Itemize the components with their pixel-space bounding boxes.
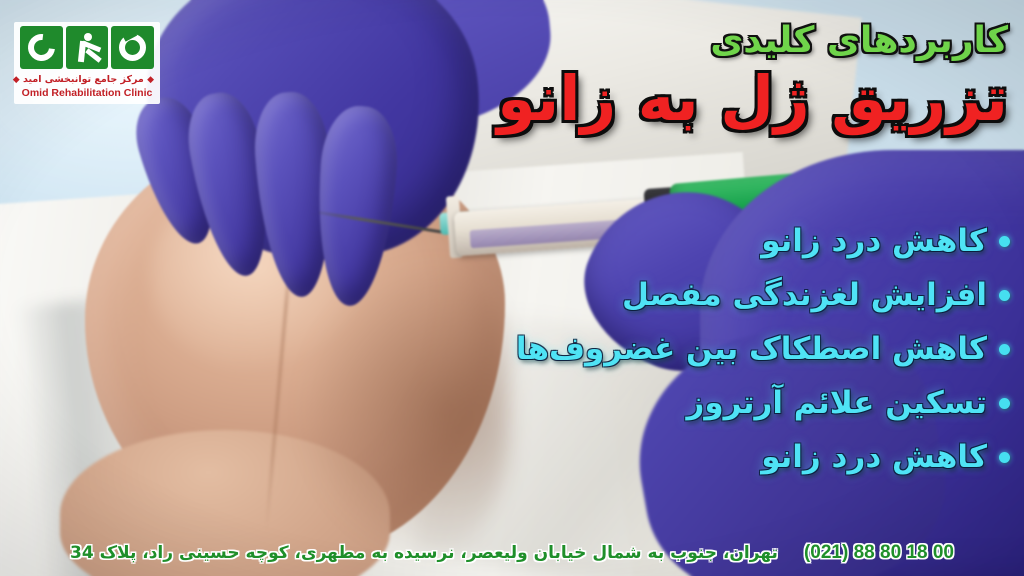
logo-c-glyph-icon [22, 29, 60, 67]
logo-english-name: Omid Rehabilitation Clinic [20, 87, 154, 99]
list-item: تسکین علائم آرتروز [320, 376, 1010, 430]
list-item: افزایش لغزندگی مفصل [320, 268, 1010, 322]
logo-dot-right-icon: ◆ [13, 75, 20, 85]
logo-persian-text: مرکز جامع توانبخشی امید [23, 74, 144, 85]
headline-kicker: کاربردهای کلیدی [448, 22, 1008, 60]
clinic-address: تهران، جنوب به شمال خیابان ولیعصر، نرسید… [70, 543, 778, 563]
benefit-label: تسکین علائم آرتروز [686, 385, 987, 421]
benefit-label: کاهش درد زانو [761, 223, 987, 259]
clinic-logo: ◆ مرکز جامع توانبخشی امید ◆ Omid Rehabil… [14, 22, 160, 104]
logo-tile-c [20, 26, 63, 69]
logo-r-figure-icon [73, 33, 101, 63]
logo-tile-r [66, 26, 109, 69]
bullet-dot-icon [999, 452, 1010, 463]
page-title: تزریق ژل به زانو [448, 66, 1008, 133]
logo-tile-o [111, 26, 154, 69]
logo-persian-name: ◆ مرکز جامع توانبخشی امید ◆ [20, 74, 154, 85]
benefits-list: کاهش درد زانو افزایش لغزندگی مفصل کاهش ا… [320, 214, 1010, 484]
clinic-phone[interactable]: (021) 88 80 18 00 [804, 542, 954, 564]
contact-footer: (021) 88 80 18 00 تهران، جنوب به شمال خی… [0, 542, 1024, 564]
bullet-dot-icon [999, 236, 1010, 247]
list-item: کاهش درد زانو [320, 214, 1010, 268]
benefit-label: کاهش درد زانو [761, 439, 987, 475]
benefit-label: افزایش لغزندگی مفصل [622, 277, 987, 313]
bullet-dot-icon [999, 290, 1010, 301]
benefit-label: کاهش اصطکاک بین غضروف‌ها [516, 331, 987, 367]
logo-tiles [20, 26, 154, 69]
bullet-dot-icon [999, 344, 1010, 355]
promotional-banner: ◆ مرکز جامع توانبخشی امید ◆ Omid Rehabil… [0, 0, 1024, 576]
logo-dot-left-icon: ◆ [147, 75, 154, 85]
list-item: کاهش اصطکاک بین غضروف‌ها [320, 322, 1010, 376]
list-item: کاهش درد زانو [320, 430, 1010, 484]
bullet-dot-icon [999, 398, 1010, 409]
headline-block: کاربردهای کلیدی تزریق ژل به زانو [448, 22, 1008, 133]
logo-o-glyph-icon [119, 34, 146, 61]
